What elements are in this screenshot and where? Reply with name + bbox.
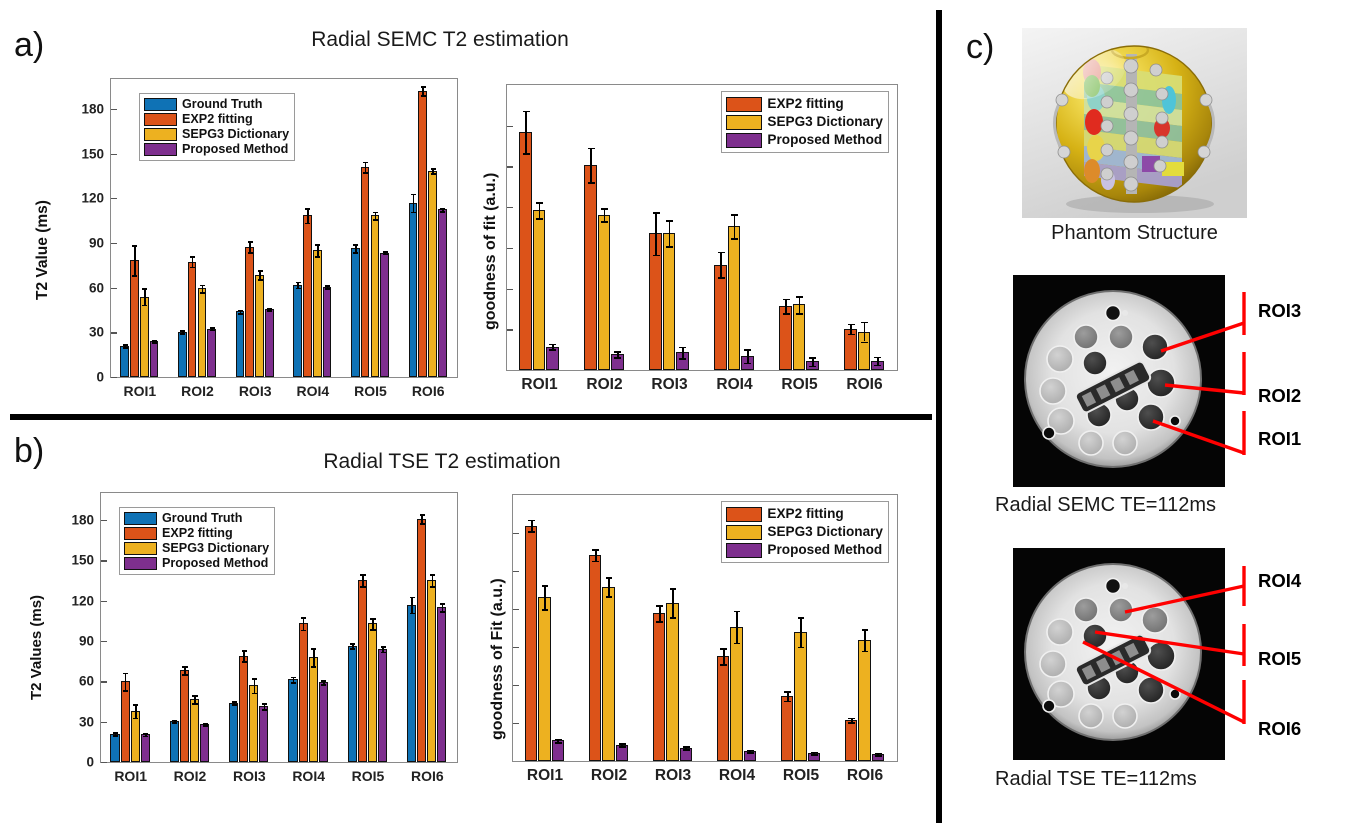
- x-tick-label: ROI2: [586, 376, 622, 394]
- error-bar-cap: [182, 674, 187, 676]
- y-tick-mark: [101, 520, 107, 521]
- bar-roi5-proposed-method: [380, 253, 389, 377]
- error-bar-cap: [653, 212, 660, 214]
- bar-roi3-exp2-fitting: [239, 656, 248, 762]
- bar-roi5-proposed-method: [378, 649, 387, 762]
- error-bar-cap: [731, 238, 738, 240]
- error-bar-cap: [200, 292, 205, 294]
- bar-roi6-sepg3-dictionary: [427, 580, 436, 762]
- error-bar-stem: [669, 220, 671, 246]
- bar-roi4-proposed-method: [323, 287, 332, 377]
- bar-roi3-exp2-fitting: [245, 247, 254, 377]
- y-tick-mark: [111, 243, 117, 244]
- bar-roi6-proposed-method: [438, 209, 447, 377]
- error-bar-cap: [232, 704, 237, 706]
- error-bar-cap: [200, 285, 205, 287]
- error-bar-cap: [301, 617, 306, 619]
- error-bar-cap: [411, 194, 416, 196]
- legend-label: EXP2 fitting: [767, 97, 843, 111]
- bar-roi6-exp2-fitting: [417, 519, 426, 762]
- error-bar-cap: [811, 754, 818, 756]
- bar-roi4-sepg3-dictionary: [728, 226, 740, 370]
- bar-roi5-sepg3-dictionary: [371, 215, 380, 377]
- error-bar-stem: [864, 322, 866, 342]
- bar-roi2-proposed-method: [200, 724, 209, 762]
- error-bar-cap: [301, 630, 306, 632]
- legend-row: Proposed Method: [144, 142, 289, 157]
- error-bar-cap: [555, 742, 562, 744]
- error-bar-cap: [420, 523, 425, 525]
- bar-roi1-exp2-fitting: [121, 681, 130, 762]
- error-bar-cap: [542, 585, 549, 587]
- error-bar-cap: [848, 334, 855, 336]
- bar-roi1-sepg3-dictionary: [140, 297, 149, 377]
- error-bar-cap: [192, 695, 197, 697]
- bar-roi2-exp2-fitting: [180, 670, 189, 762]
- x-tick-label: ROI1: [527, 767, 563, 785]
- error-bar-cap: [731, 214, 738, 216]
- y-tick-mark: [513, 571, 519, 572]
- error-bar-cap: [180, 330, 185, 332]
- error-bar-stem: [254, 678, 256, 693]
- error-bar-cap: [744, 363, 751, 365]
- error-bar-cap: [431, 173, 436, 175]
- error-bar-cap: [133, 704, 138, 706]
- y-tick-mark: [101, 762, 107, 763]
- error-bar-cap: [252, 678, 257, 680]
- error-bar-cap: [592, 549, 599, 551]
- x-tick-label: ROI4: [716, 376, 752, 394]
- bar-roi3-ground-truth: [236, 311, 245, 377]
- error-bar-cap: [523, 153, 530, 155]
- error-bar-stem: [720, 252, 722, 278]
- error-bar-cap: [311, 666, 316, 668]
- y-tick-label: 150: [71, 553, 94, 568]
- error-bar-cap: [683, 749, 690, 751]
- y-tick-mark: [111, 332, 117, 333]
- roi-label-roi5: ROI5: [1258, 648, 1301, 670]
- y-tick-mark: [101, 641, 107, 642]
- error-bar-stem: [307, 208, 309, 223]
- x-tick-label: ROI6: [847, 767, 883, 785]
- y-tick-mark: [507, 329, 513, 330]
- bar-roi1-proposed-method: [150, 341, 159, 377]
- roi-label-roi2: ROI2: [1258, 385, 1301, 407]
- error-bar-cap: [363, 172, 368, 174]
- x-tick-label: ROI5: [354, 383, 387, 399]
- y-tick-mark: [101, 681, 107, 682]
- bar-roi2-ground-truth: [170, 721, 179, 762]
- bar-roi2-exp2-fitting: [589, 555, 601, 761]
- error-bar-stem: [747, 349, 749, 363]
- roi-label-roi3: ROI3: [1258, 300, 1301, 322]
- error-bar-stem: [659, 605, 661, 621]
- error-bar-cap: [588, 148, 595, 150]
- error-bar-cap: [862, 651, 869, 653]
- error-bar-cap: [679, 347, 686, 349]
- error-bar-cap: [430, 586, 435, 588]
- error-bar-stem: [144, 288, 146, 304]
- error-bar-cap: [296, 288, 301, 290]
- error-bar-cap: [143, 733, 148, 735]
- error-bar-cap: [291, 677, 296, 679]
- error-bar-stem: [539, 202, 541, 218]
- error-bar-cap: [383, 254, 388, 256]
- error-bar-cap: [549, 344, 556, 346]
- error-bar-cap: [809, 366, 816, 368]
- error-bar-cap: [410, 613, 415, 615]
- x-tick-label: ROI5: [783, 767, 819, 785]
- error-bar-cap: [734, 611, 741, 613]
- error-bar-cap: [311, 648, 316, 650]
- y-tick-label: 30: [79, 714, 94, 729]
- bar-roi6-ground-truth: [407, 605, 416, 762]
- bar-roi3-sepg3-dictionary: [666, 603, 678, 761]
- error-bar-cap: [370, 629, 375, 631]
- error-bar-cap: [152, 342, 157, 344]
- legend-row: Proposed Method: [124, 556, 269, 571]
- chart-b-gof-ylabel: goodness of Fit (a.u.): [489, 578, 507, 740]
- legend-swatch: [124, 542, 157, 555]
- error-bar-cap: [811, 752, 818, 754]
- x-tick-label: ROI5: [352, 768, 385, 784]
- bar-roi5-exp2-fitting: [358, 580, 367, 762]
- error-bar-stem: [317, 244, 319, 256]
- error-bar-cap: [258, 270, 263, 272]
- error-bar-cap: [848, 718, 855, 720]
- error-bar-cap: [123, 347, 128, 349]
- error-bar-cap: [861, 322, 868, 324]
- legend-swatch: [124, 557, 157, 570]
- bar-roi2-sepg3-dictionary: [602, 587, 614, 761]
- error-bar-cap: [180, 333, 185, 335]
- x-tick-label: ROI1: [123, 383, 156, 399]
- error-bar-cap: [305, 208, 310, 210]
- bar-roi6-exp2-fitting: [418, 91, 427, 377]
- error-bar-cap: [875, 753, 882, 755]
- chart-a-gof-plot-area: ROI1ROI2ROI3ROI4ROI5ROI6EXP2 fittingSEPG…: [507, 85, 897, 370]
- legend-swatch: [144, 128, 177, 141]
- error-bar-cap: [238, 310, 243, 312]
- error-bar-stem: [411, 597, 413, 613]
- error-bar-cap: [172, 722, 177, 724]
- y-tick-mark: [507, 289, 513, 290]
- y-tick-mark: [513, 533, 519, 534]
- y-tick-label: 150: [81, 146, 104, 161]
- error-bar-cap: [619, 746, 626, 748]
- legend-row: SEPG3 Dictionary: [144, 127, 289, 142]
- bar-roi6-exp2-fitting: [845, 720, 857, 761]
- bar-roi5-sepg3-dictionary: [794, 632, 806, 761]
- error-bar-stem: [313, 648, 315, 665]
- legend-row: Proposed Method: [726, 541, 883, 559]
- bar-roi2-exp2-fitting: [188, 262, 197, 377]
- error-bar-stem: [785, 299, 787, 313]
- bar-roi5-exp2-fitting: [779, 306, 791, 370]
- x-tick-label: ROI2: [174, 768, 207, 784]
- chart-legend: Ground TruthEXP2 fittingSEPG3 Dictionary…: [119, 507, 275, 575]
- error-bar-stem: [604, 208, 606, 221]
- legend-label: SEPG3 Dictionary: [182, 128, 289, 141]
- error-bar-stem: [723, 648, 725, 664]
- error-bar-cap: [744, 349, 751, 351]
- error-bar-stem: [799, 296, 801, 313]
- bar-roi6-proposed-method: [437, 607, 446, 762]
- error-bar-cap: [142, 288, 147, 290]
- error-bar-cap: [614, 357, 621, 359]
- x-tick-label: ROI3: [239, 383, 272, 399]
- error-bar-cap: [252, 693, 257, 695]
- error-bar-cap: [796, 296, 803, 298]
- error-bar-cap: [734, 643, 741, 645]
- bar-roi5-exp2-fitting: [361, 167, 370, 377]
- y-tick-mark: [111, 198, 117, 199]
- y-tick-mark: [513, 723, 519, 724]
- error-bar-stem: [682, 347, 684, 358]
- x-tick-label: ROI5: [781, 376, 817, 394]
- y-tick-mark: [111, 154, 117, 155]
- panel-divider-horizontal: [10, 414, 932, 420]
- error-bar-cap: [267, 310, 272, 312]
- legend-row: SEPG3 Dictionary: [124, 541, 269, 556]
- tse-caption: Radial TSE TE=112ms: [995, 768, 1265, 791]
- error-bar-cap: [172, 720, 177, 722]
- bar-roi3-proposed-method: [265, 309, 274, 377]
- bar-roi4-exp2-fitting: [717, 656, 729, 761]
- error-bar-cap: [133, 718, 138, 720]
- error-bar-stem: [303, 617, 305, 629]
- error-bar-cap: [421, 95, 426, 97]
- panel-a-title: Radial SEMC T2 estimation: [230, 28, 650, 52]
- error-bar-cap: [210, 330, 215, 332]
- bar-roi2-sepg3-dictionary: [598, 215, 610, 370]
- bar-roi5-ground-truth: [348, 646, 357, 762]
- legend-row: EXP2 fitting: [144, 112, 289, 127]
- roi-label-roi1: ROI1: [1258, 428, 1301, 450]
- error-bar-cap: [666, 220, 673, 222]
- error-bar-stem: [736, 611, 738, 643]
- error-bar-cap: [874, 357, 881, 359]
- panel-a-letter: a): [14, 26, 44, 65]
- error-bar-stem: [413, 194, 415, 212]
- bar-roi5-ground-truth: [351, 248, 360, 377]
- x-tick-label: ROI4: [296, 383, 329, 399]
- error-bar-stem: [590, 148, 592, 182]
- error-bar-cap: [411, 212, 416, 214]
- y-tick-mark: [513, 685, 519, 686]
- y-tick-label: 180: [71, 512, 94, 527]
- bar-roi4-ground-truth: [288, 679, 297, 762]
- error-bar-cap: [718, 277, 725, 279]
- legend-row: Proposed Method: [726, 131, 883, 149]
- bar-roi2-sepg3-dictionary: [198, 288, 207, 377]
- error-bar-cap: [592, 561, 599, 563]
- error-bar-stem: [362, 574, 364, 586]
- error-bar-cap: [381, 646, 386, 648]
- legend-swatch: [726, 543, 762, 558]
- x-tick-label: ROI4: [719, 767, 755, 785]
- error-bar-cap: [848, 324, 855, 326]
- legend-label: Proposed Method: [767, 543, 882, 557]
- chart-legend: Ground TruthEXP2 fittingSEPG3 Dictionary…: [139, 93, 295, 161]
- error-bar-cap: [370, 618, 375, 620]
- error-bar-cap: [440, 208, 445, 210]
- legend-label: Proposed Method: [767, 133, 882, 147]
- phantom-structure-caption: Phantom Structure: [1022, 222, 1247, 245]
- bar-roi4-sepg3-dictionary: [313, 250, 322, 377]
- error-bar-stem: [125, 673, 127, 690]
- bar-roi4-exp2-fitting: [303, 215, 312, 377]
- x-tick-label: ROI6: [412, 383, 445, 399]
- error-bar-cap: [258, 279, 263, 281]
- chart-b-t2-axes: 0306090120150180ROI1ROI2ROI3ROI4ROI5ROI6…: [100, 492, 458, 763]
- y-tick-label: 60: [89, 280, 104, 295]
- error-bar-stem: [595, 549, 597, 561]
- y-tick-label: 180: [81, 101, 104, 116]
- error-bar-cap: [440, 603, 445, 605]
- error-bar-cap: [190, 267, 195, 269]
- error-bar-cap: [588, 182, 595, 184]
- error-bar-stem: [134, 245, 136, 275]
- error-bar-cap: [536, 218, 543, 220]
- y-tick-label: 90: [89, 235, 104, 250]
- x-tick-label: ROI3: [233, 768, 266, 784]
- chart-b-t2-plot-area: 0306090120150180ROI1ROI2ROI3ROI4ROI5ROI6…: [101, 493, 457, 762]
- roi-label-roi4: ROI4: [1258, 570, 1301, 592]
- bar-roi6-ground-truth: [409, 203, 418, 377]
- panel-divider-vertical: [936, 10, 942, 823]
- chart-a-t2-axes: 0306090120150180ROI1ROI2ROI3ROI4ROI5ROI6…: [110, 78, 458, 378]
- error-bar-cap: [248, 252, 253, 254]
- legend-row: Ground Truth: [124, 511, 269, 526]
- error-bar-cap: [619, 743, 626, 745]
- error-bar-cap: [440, 611, 445, 613]
- chart-a-gof-axes: ROI1ROI2ROI3ROI4ROI5ROI6EXP2 fittingSEPG…: [506, 84, 898, 371]
- error-bar-stem: [800, 617, 802, 646]
- legend-row: Ground Truth: [144, 97, 289, 112]
- error-bar-cap: [796, 313, 803, 315]
- error-bar-cap: [420, 514, 425, 516]
- y-tick-mark: [111, 109, 117, 110]
- x-tick-label: ROI6: [846, 376, 882, 394]
- bar-roi2-sepg3-dictionary: [190, 699, 199, 762]
- error-bar-cap: [874, 365, 881, 367]
- bar-roi6-sepg3-dictionary: [858, 640, 870, 761]
- error-bar-cap: [656, 621, 663, 623]
- chart-b-gof-axes: ROI1ROI2ROI3ROI4ROI5ROI6EXP2 fittingSEPG…: [512, 494, 898, 762]
- bar-roi4-exp2-fitting: [714, 265, 726, 370]
- error-bar-cap: [606, 596, 613, 598]
- panel-c-letter: c): [966, 28, 994, 67]
- error-bar-cap: [381, 652, 386, 654]
- panel-b-title: Radial TSE T2 estimation: [232, 450, 652, 474]
- error-bar-cap: [373, 219, 378, 221]
- error-bar-cap: [360, 586, 365, 588]
- error-bar-cap: [291, 682, 296, 684]
- x-tick-label: ROI1: [521, 376, 557, 394]
- error-bar-cap: [683, 746, 690, 748]
- error-bar-cap: [720, 648, 727, 650]
- error-bar-cap: [315, 256, 320, 258]
- error-bar-cap: [123, 673, 128, 675]
- roi-label-roi6: ROI6: [1258, 718, 1301, 740]
- panel-b-letter: b): [14, 432, 44, 471]
- legend-label: SEPG3 Dictionary: [767, 115, 883, 129]
- error-bar-cap: [142, 305, 147, 307]
- y-tick-label: 30: [89, 325, 104, 340]
- phantom-structure-image: [1022, 28, 1247, 218]
- error-bar-cap: [132, 275, 137, 277]
- bar-roi1-ground-truth: [120, 346, 129, 377]
- error-bar-cap: [182, 666, 187, 668]
- error-bar-cap: [325, 288, 330, 290]
- legend-label: EXP2 fitting: [182, 113, 253, 126]
- legend-swatch: [144, 113, 177, 126]
- bar-roi1-exp2-fitting: [525, 526, 537, 761]
- chart-b-t2-ylabel: T2 Values (ms): [28, 595, 45, 700]
- y-tick-mark: [101, 560, 107, 561]
- legend-swatch: [124, 512, 157, 525]
- error-bar-stem: [672, 588, 674, 617]
- legend-swatch: [144, 143, 177, 156]
- bar-roi3-ground-truth: [229, 703, 238, 762]
- y-tick-label: 120: [71, 593, 94, 608]
- x-tick-label: ROI2: [591, 767, 627, 785]
- error-bar-stem: [531, 520, 533, 532]
- y-tick-mark: [111, 288, 117, 289]
- error-bar-cap: [523, 111, 530, 113]
- legend-label: Proposed Method: [162, 557, 268, 570]
- error-bar-cap: [296, 282, 301, 284]
- chart-legend: EXP2 fittingSEPG3 DictionaryProposed Met…: [721, 501, 889, 563]
- error-bar-cap: [848, 722, 855, 724]
- legend-label: Proposed Method: [182, 143, 288, 156]
- error-bar-cap: [360, 574, 365, 576]
- legend-swatch: [124, 527, 157, 540]
- error-bar-cap: [606, 577, 613, 579]
- y-tick-mark: [507, 207, 513, 208]
- bar-roi4-sepg3-dictionary: [730, 627, 742, 761]
- legend-label: SEPG3 Dictionary: [767, 525, 883, 539]
- y-tick-mark: [111, 377, 117, 378]
- bar-roi2-proposed-method: [207, 329, 216, 377]
- error-bar-cap: [350, 643, 355, 645]
- error-bar-cap: [353, 252, 358, 254]
- error-bar-cap: [315, 244, 320, 246]
- error-bar-cap: [431, 168, 436, 170]
- error-bar-cap: [262, 703, 267, 705]
- y-tick-label: 0: [96, 370, 104, 385]
- error-bar-stem: [655, 212, 657, 255]
- chart-b-gof-plot-area: ROI1ROI2ROI3ROI4ROI5ROI6EXP2 fittingSEPG…: [513, 495, 897, 761]
- error-bar-cap: [373, 212, 378, 214]
- error-bar-stem: [734, 214, 736, 238]
- error-bar-cap: [784, 691, 791, 693]
- y-tick-label: 90: [79, 633, 94, 648]
- legend-swatch: [726, 507, 762, 522]
- error-bar-cap: [528, 531, 535, 533]
- error-bar-cap: [363, 162, 368, 164]
- x-tick-label: ROI2: [181, 383, 214, 399]
- error-bar-cap: [798, 647, 805, 649]
- bar-roi4-ground-truth: [293, 285, 302, 377]
- legend-row: EXP2 fitting: [124, 526, 269, 541]
- x-tick-label: ROI6: [411, 768, 444, 784]
- bar-roi1-exp2-fitting: [519, 132, 531, 370]
- y-tick-mark: [101, 601, 107, 602]
- y-tick-label: 60: [79, 674, 94, 689]
- bar-roi1-sepg3-dictionary: [533, 210, 545, 370]
